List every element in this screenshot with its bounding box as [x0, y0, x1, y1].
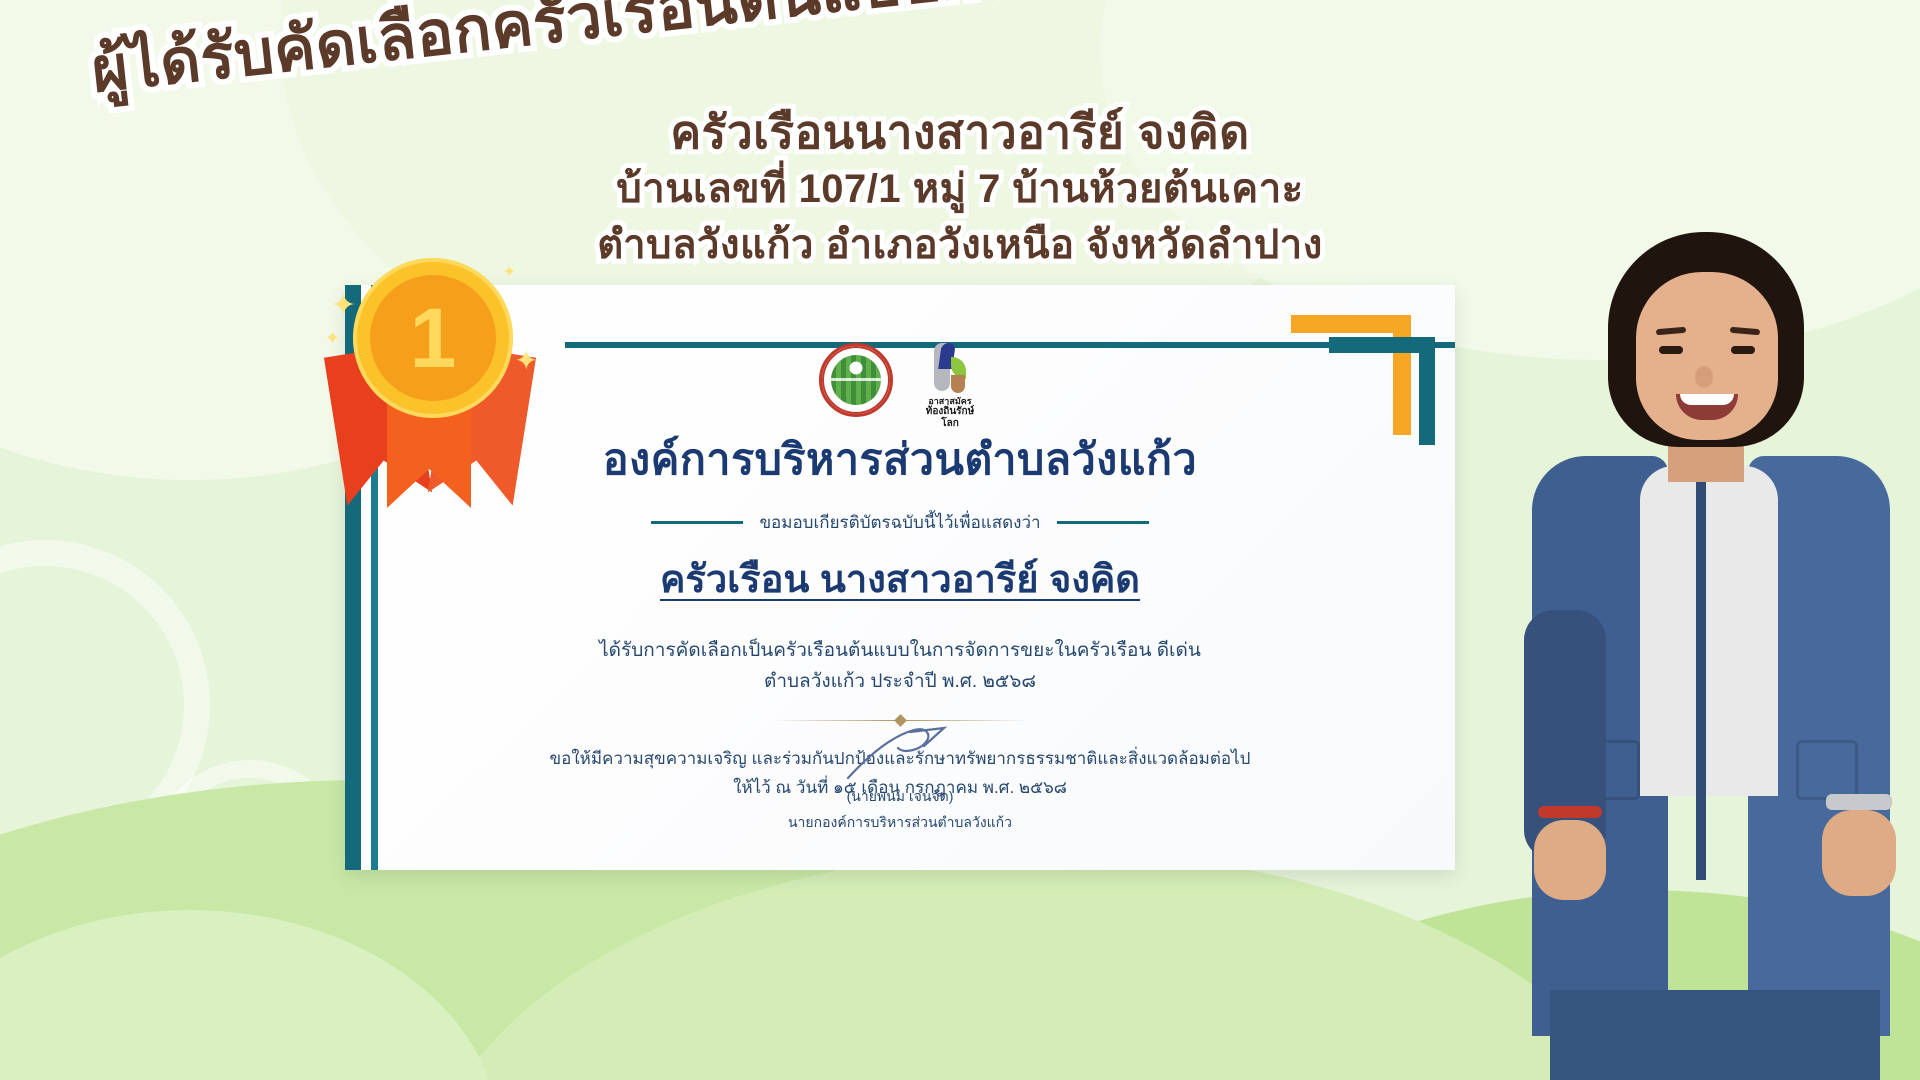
certificate-title: องค์การบริหารส่วนตำบลวังแก้ว — [405, 425, 1395, 493]
award-line-1: ได้รับการคัดเลือกเป็นครัวเรือนต้นแบบในกา… — [599, 640, 1201, 661]
water-droplet-icon — [932, 343, 968, 393]
first-place-medal: 1 ✦ ✦ ✦ ✦ — [325, 258, 540, 518]
signer-name: (นายพนม เจนจัด) — [345, 786, 1455, 808]
jacket-placket — [1696, 480, 1706, 880]
nose — [1695, 366, 1713, 388]
hand-right — [1822, 810, 1896, 896]
sparkle-icon: ✦ — [503, 262, 516, 282]
certificate-subtitle: ขอมอบเกียรติบัตรฉบับนี้ไว้เพื่อแสดงว่า — [759, 509, 1040, 536]
logo-text-line-1: อาสาสมัคร — [919, 396, 981, 406]
subtitle-rule-left — [651, 521, 743, 524]
jeans — [1550, 990, 1880, 1080]
sparkle-icon: ✦ — [515, 344, 538, 377]
jacket-pocket-right — [1796, 740, 1858, 800]
signature-block: (นายพนม เจนจัด) นายกองค์การบริหารส่วนตำบ… — [345, 728, 1455, 834]
wristwatch — [1826, 794, 1892, 810]
volunteer-droplet-logo: อาสาสมัคร ท้องถิ่นรักษ์โลก — [919, 343, 981, 429]
medal-disc: 1 — [353, 258, 513, 418]
shirt — [1640, 466, 1778, 796]
certificate-subtitle-row: ขอมอบเกียรติบัตรฉบับนี้ไว้เพื่อแสดงว่า — [405, 509, 1395, 536]
hand-left — [1534, 820, 1606, 900]
municipality-seal-icon — [819, 343, 893, 417]
person-photo — [1490, 180, 1920, 1080]
sparkle-icon: ✦ — [331, 288, 356, 323]
medal-rank-number: 1 — [370, 275, 496, 401]
bracelet — [1538, 806, 1602, 818]
subtitle-rule-right — [1057, 521, 1149, 524]
certificate-award-text: ได้รับการคัดเลือกเป็นครัวเรือนต้นแบบในกา… — [405, 635, 1395, 698]
recipient-name: ครัวเรือน นางสาวอารีย์ จงคิด — [405, 548, 1395, 609]
header-line-3: บ้านเลขที่ 107/1 หมู่ 7 บ้านห้วยต้นเคาะ — [616, 156, 1303, 220]
signature-mark — [345, 728, 1455, 786]
eye-left — [1659, 346, 1683, 354]
signer-title: นายกองค์การบริหารส่วนตำบลวังแก้ว — [345, 812, 1455, 834]
award-line-2: ตำบลวังแก้ว ประจำปี พ.ศ. ๒๕๖๘ — [405, 666, 1395, 697]
eye-right — [1731, 346, 1755, 354]
sparkle-icon: ✦ — [325, 328, 340, 349]
header-line-4: ตำบลวังแก้ว อำเภอวังเหนือ จังหวัดลำปาง — [597, 212, 1323, 276]
